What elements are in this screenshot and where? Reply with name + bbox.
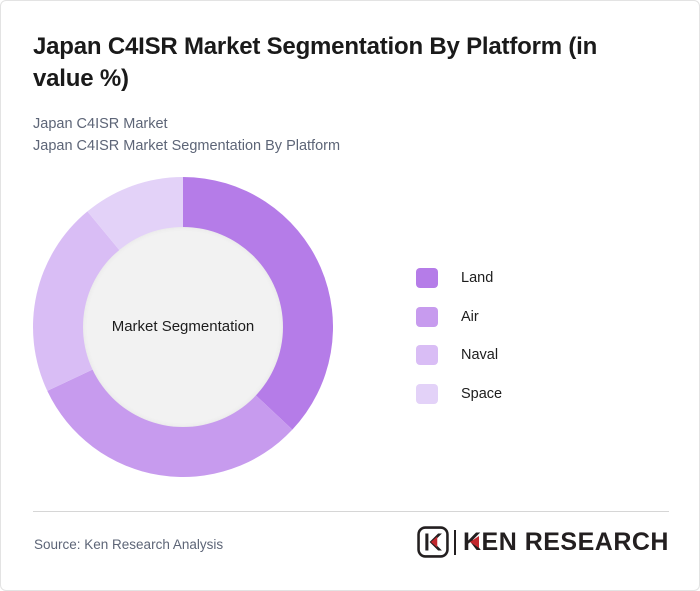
donut-center-label: Market Segmentation: [104, 318, 263, 336]
subtitle-market: Japan C4ISR Market: [33, 113, 593, 135]
legend-item-naval[interactable]: Naval: [416, 336, 616, 375]
logo-wordmark-rest: EN RESEARCH: [482, 530, 669, 555]
legend-swatch-icon-naval: [416, 345, 438, 365]
chart-card: Japan C4ISR Market Segmentation By Platf…: [0, 0, 700, 591]
legend-item-space[interactable]: Space: [416, 375, 616, 414]
legend-item-land[interactable]: Land: [416, 259, 616, 298]
chart-legend: Land Air Naval Space: [416, 259, 616, 413]
legend-label-space: Space: [461, 386, 502, 402]
logo-wedge-icon: [470, 536, 479, 548]
logo-wordmark: K EN RESEARCH: [463, 530, 669, 555]
subtitle-segmentation: Japan C4ISR Market Segmentation By Platf…: [33, 135, 593, 157]
legend-label-air: Air: [461, 309, 479, 325]
ken-research-logo: K EN RESEARCH: [416, 523, 669, 561]
legend-label-land: Land: [461, 270, 493, 286]
logo-wordmark-k: K: [463, 530, 482, 555]
legend-label-naval: Naval: [461, 347, 498, 363]
logo-divider: [454, 530, 456, 555]
legend-swatch-icon-land: [416, 268, 438, 288]
source-note: Source: Ken Research Analysis: [34, 537, 223, 552]
subtitle-block: Japan C4ISR Market Japan C4ISR Market Se…: [33, 113, 593, 157]
ken-research-monogram-icon: [416, 525, 450, 559]
footer-divider: [33, 511, 669, 512]
donut-center-hole: Market Segmentation: [83, 227, 283, 427]
legend-swatch-icon-air: [416, 307, 438, 327]
page-title: Japan C4ISR Market Segmentation By Platf…: [33, 31, 633, 94]
legend-item-air[interactable]: Air: [416, 298, 616, 337]
donut-ring: Market Segmentation: [33, 177, 333, 477]
donut-chart: Market Segmentation: [33, 177, 333, 477]
legend-swatch-icon-space: [416, 384, 438, 404]
